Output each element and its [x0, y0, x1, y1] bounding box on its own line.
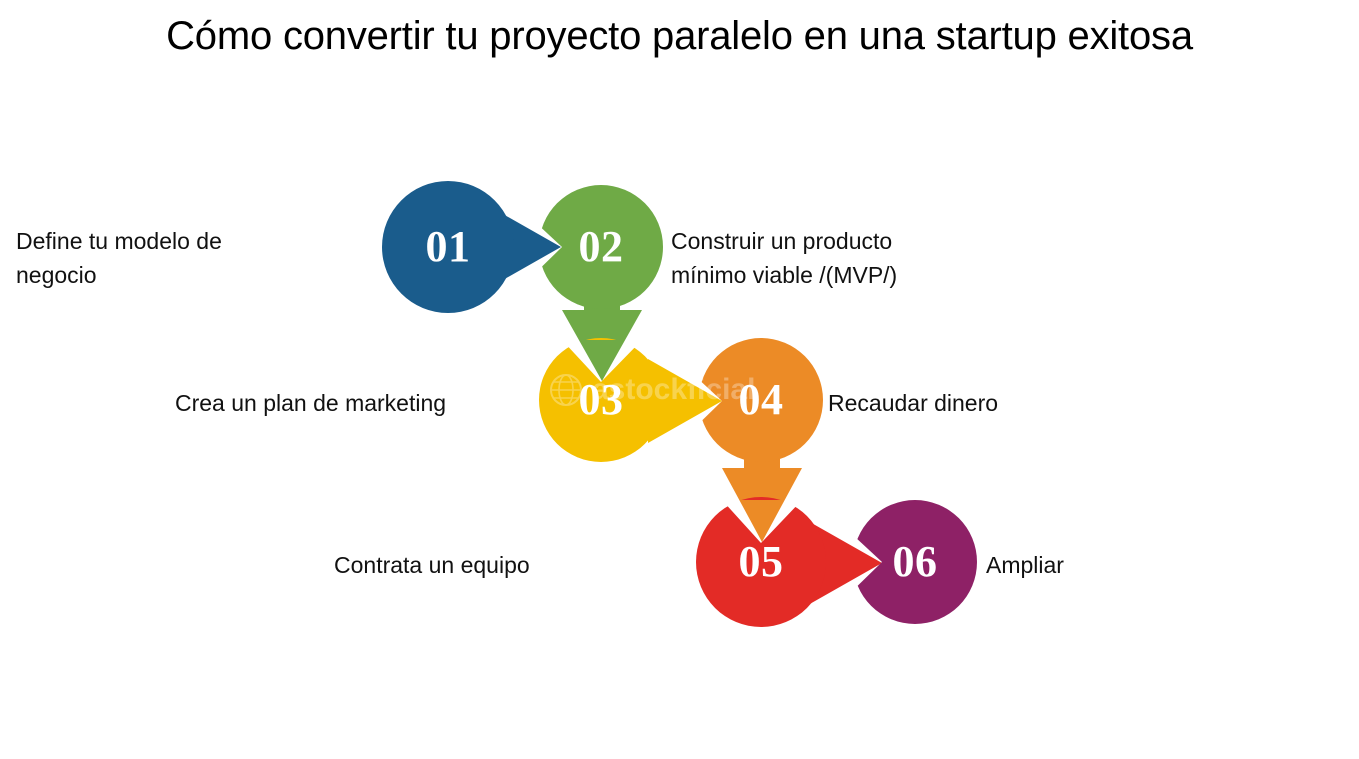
- step-caption-05: Contrata un equipo: [334, 548, 644, 582]
- step-caption-03: Crea un plan de marketing: [175, 386, 525, 420]
- step-circle-06[interactable]: [853, 500, 977, 624]
- step-caption-02: Construir un producto mínimo viable /(MV…: [671, 224, 1001, 292]
- step-caption-01-line2: negocio: [16, 258, 356, 292]
- step-caption-04: Recaudar dinero: [828, 386, 1128, 420]
- step-circle-03[interactable]: [539, 338, 663, 462]
- step-caption-02-line1: Construir un producto: [671, 224, 1001, 258]
- step-circle-02[interactable]: [539, 185, 663, 309]
- step-circle-04[interactable]: [699, 338, 823, 462]
- step-circle-05[interactable]: [696, 497, 826, 627]
- step-caption-06: Ampliar: [986, 548, 1236, 582]
- step-circle-01[interactable]: [382, 181, 514, 313]
- process-flow-diagram: [0, 0, 1359, 759]
- step-caption-01: Define tu modelo de negocio: [16, 224, 356, 292]
- step-caption-01-line1: Define tu modelo de: [16, 224, 356, 258]
- step-caption-02-line2: mínimo viable /(MVP/): [671, 258, 1001, 292]
